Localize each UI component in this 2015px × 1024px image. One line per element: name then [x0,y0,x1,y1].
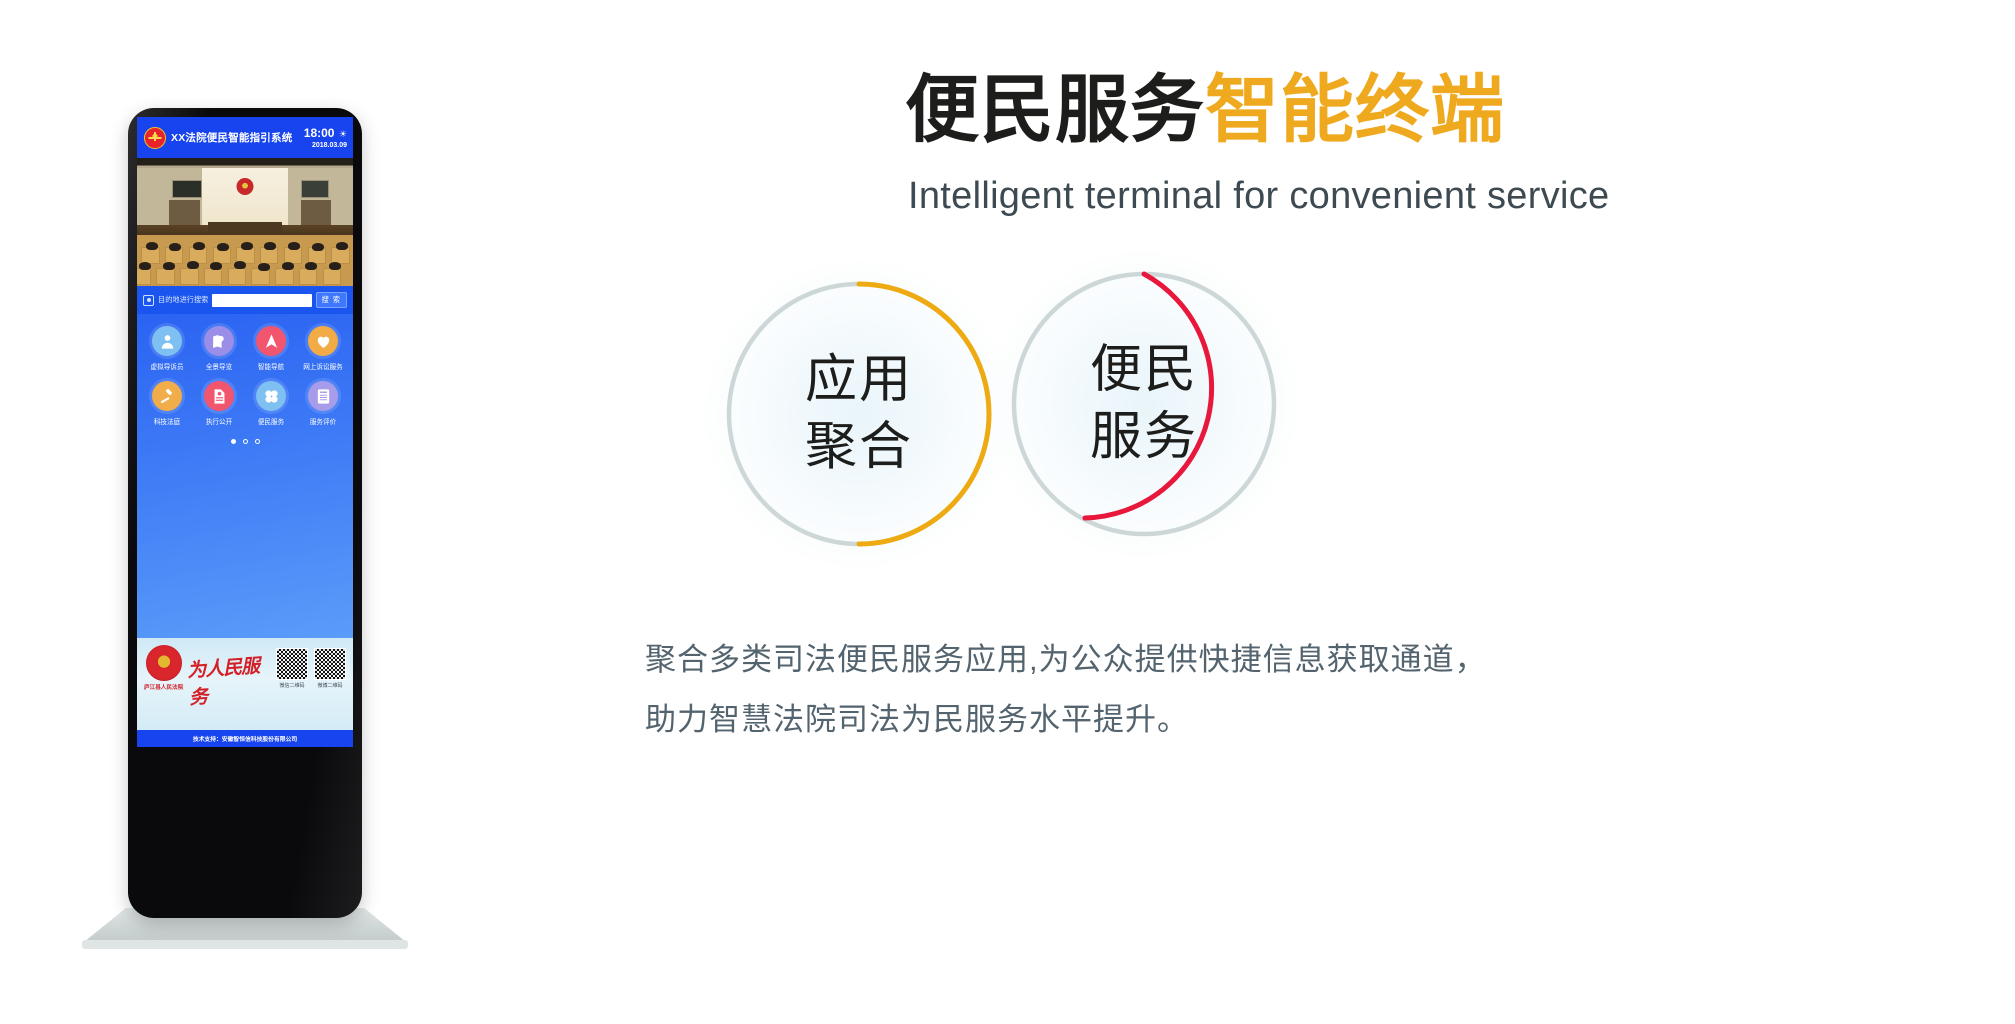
app-label: 服务评价 [310,416,336,426]
list-icon[interactable] [308,381,338,411]
page-title: 便民服务智能终端 [905,50,1505,157]
circle-right-line1: 便民 [1090,337,1198,404]
app-item-5[interactable]: 科技法庭 [141,381,193,426]
court-name: 庐江县人民法院 [144,683,183,691]
app-item-6[interactable]: 执行公开 [193,381,245,426]
description-paragraph: 聚合多类司法便民服务应用,为公众提供快捷信息获取通道， 助力智慧法院司法为民服务… [645,630,1965,751]
title-gold-part: 智能终端 [1205,68,1505,151]
circle-application-aggregation: 应用 聚合 [725,280,993,548]
content-panel: 便民服务智能终端 Intelligent terminal for conven… [640,0,2015,1024]
app-label: 便民服务 [258,416,284,426]
circle-left-text: 应用 聚合 [805,347,913,480]
app-item-7[interactable]: 便民服务 [245,381,297,426]
person-icon[interactable] [152,326,182,356]
app-item-2[interactable]: 全景导览 [193,326,245,371]
search-button[interactable]: 搜 索 [316,292,347,308]
heart-icon[interactable] [308,326,338,356]
app-item-8[interactable]: 服务评价 [297,381,349,426]
circle-left-line2: 聚合 [805,414,913,481]
app-label: 全景导览 [206,361,232,371]
app-item-4[interactable]: 网上诉讼服务 [297,326,349,371]
circle-right-line2: 服务 [1090,404,1198,471]
slogan-calligraphy: 为人民服务 [186,650,272,710]
tech-support-bar: 技术支持：安徽智恒信科技股份有限公司 [137,730,353,747]
qr-code-label: 微信二维码 [279,682,304,689]
map-location-icon [143,295,154,306]
qr-code-image [276,648,308,680]
app-label: 科技法庭 [154,416,180,426]
map-pin-icon[interactable] [204,326,234,356]
clover-icon[interactable] [256,381,286,411]
screen-header: XX法院便民智能指引系统 18:00 ☀ 2018.03.09 [137,117,353,158]
title-black-part: 便民服务 [905,68,1205,151]
app-item-1[interactable]: 虚拟导诉员 [141,326,193,371]
document-icon[interactable] [204,381,234,411]
kiosk-screen: XX法院便民智能指引系统 18:00 ☀ 2018.03.09 [137,117,353,747]
kiosk-body: XX法院便民智能指引系统 18:00 ☀ 2018.03.09 [128,108,362,918]
sun-icon: ☀ [339,129,347,139]
clock-date: 2018.03.09 [304,142,347,149]
court-logo: 庐江县人民法院 [144,645,183,691]
qr-code-image [314,648,346,680]
court-emblem-large-icon [146,645,182,681]
app-grid-panel: 虚拟导诉员全景导览智能导航网上诉讼服务科技法庭执行公开便民服务服务评价 [137,314,353,638]
search-label: 目的地进行搜索 [158,295,208,305]
clock-time: 18:00 [304,126,335,140]
pager-dot-3[interactable] [255,439,260,444]
page-root: XX法院便民智能指引系统 18:00 ☀ 2018.03.09 [0,0,2015,1024]
kiosk-base-foot [82,940,408,949]
courtroom-emblem-icon [237,178,254,195]
courtroom-photo [137,158,353,286]
kiosk-illustration: XX法院便民智能指引系统 18:00 ☀ 2018.03.09 [0,0,640,1024]
tech-support-text: 技术支持：安徽智恒信科技股份有限公司 [193,734,297,743]
paragraph-line-2: 助力智慧法院司法为民服务水平提升。 [645,690,1965,750]
pager-dot-2[interactable] [243,439,248,444]
circle-left-line1: 应用 [805,347,913,414]
search-input[interactable] [212,294,311,307]
app-label: 虚拟导诉员 [151,361,184,371]
screen-footer: 庐江县人民法院 为人民服务 微信二维码微博二维码 [137,638,353,730]
screen-clock: 18:00 ☀ 2018.03.09 [304,125,347,149]
pager-dots[interactable] [141,439,349,444]
gavel-icon[interactable] [152,381,182,411]
app-label: 智能导航 [258,361,284,371]
pager-dot-1[interactable] [231,439,236,444]
screen-title: XX法院便民智能指引系统 [171,130,292,145]
qr-code-item-2: 微博二维码 [314,648,346,689]
navigation-icon[interactable] [256,326,286,356]
app-grid: 虚拟导诉员全景导览智能导航网上诉讼服务科技法庭执行公开便民服务服务评价 [141,326,349,426]
qr-code-label: 微博二维码 [317,682,342,689]
search-bar: 目的地进行搜索 搜 索 [137,286,353,314]
app-label: 执行公开 [206,416,232,426]
qr-code-item-1: 微信二维码 [276,648,308,689]
court-emblem-icon [144,127,166,149]
app-item-3[interactable]: 智能导航 [245,326,297,371]
qr-code-list: 微信二维码微博二维码 [276,645,346,689]
circle-convenient-service: 便民 服务 [1010,270,1278,538]
page-subtitle: Intelligent terminal for convenient serv… [908,175,1609,218]
paragraph-line-1: 聚合多类司法便民服务应用,为公众提供快捷信息获取通道， [645,630,1965,690]
app-label: 网上诉讼服务 [303,361,343,371]
circle-right-text: 便民 服务 [1090,337,1198,470]
